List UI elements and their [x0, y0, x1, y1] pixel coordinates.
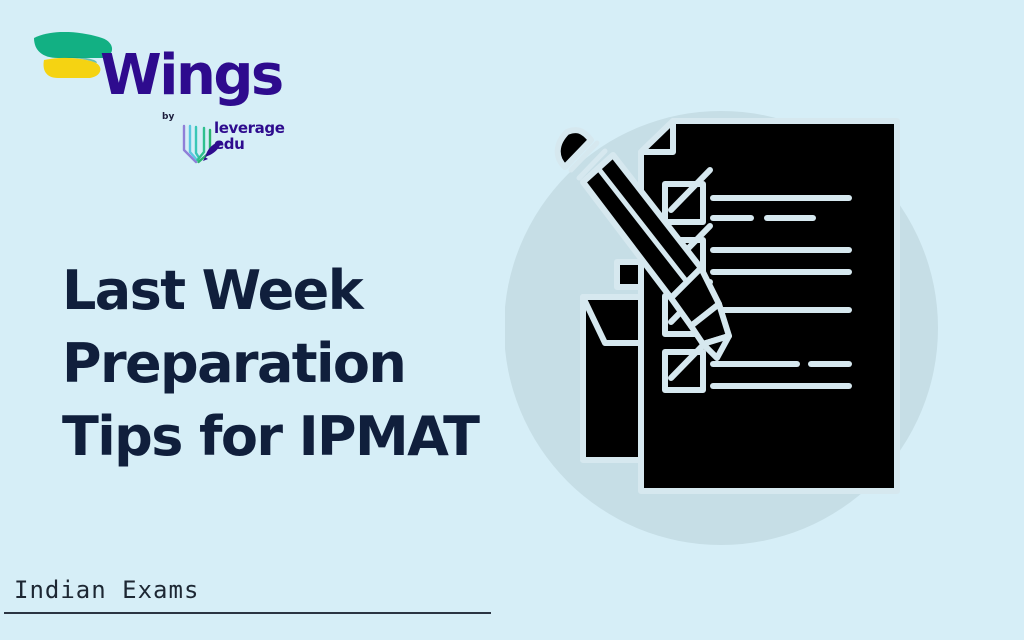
headline-line-2: Preparation	[62, 327, 502, 400]
rocket-icon	[202, 140, 226, 162]
banner: Wings by leverage edu	[0, 0, 1024, 640]
leverage-edu-lockup: leverage edu	[180, 118, 290, 166]
logo-by-label: by	[162, 112, 174, 122]
headline-line-1: Last Week	[62, 254, 502, 327]
leverage-edu-line1: leverage	[214, 120, 285, 136]
headline-line-3: Tips for IPMAT	[62, 400, 502, 473]
category-divider	[4, 612, 491, 614]
checklist-illustration	[505, 100, 945, 560]
logo-wordmark: Wings	[100, 48, 282, 104]
wings-by-leverage-edu-logo[interactable]: Wings by leverage edu	[28, 26, 288, 156]
category-label: Indian Exams	[14, 576, 199, 604]
page-title: Last Week Preparation Tips for IPMAT	[62, 254, 502, 473]
